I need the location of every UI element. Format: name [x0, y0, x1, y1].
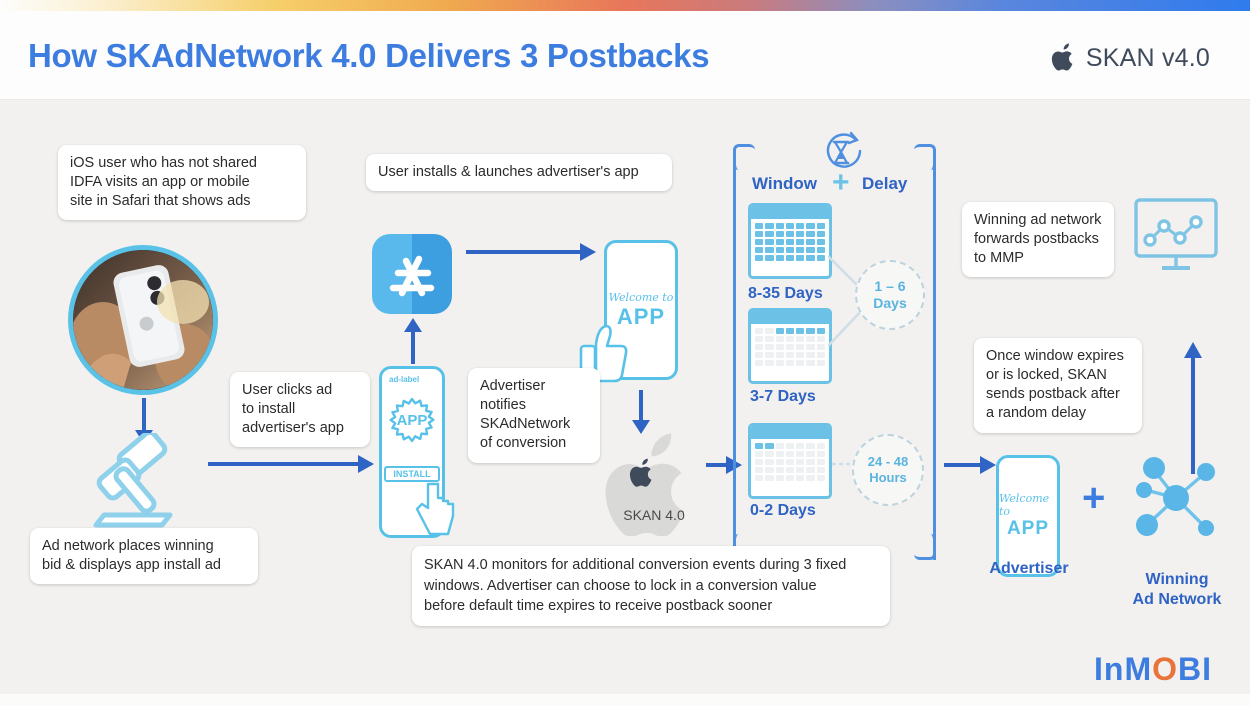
app-starburst-icon: APP: [383, 396, 441, 452]
apple-logo-icon: [1050, 43, 1076, 73]
ad-label: ad-label: [389, 375, 419, 384]
calendar-icon-window-2: [748, 308, 832, 384]
advertiser-phone: Welcome to APP: [996, 455, 1060, 577]
callout-ad-network-bid: Ad network places winning bid & displays…: [30, 528, 258, 584]
network-nodes-icon: [1130, 452, 1222, 544]
arrow-right-to-welcome-phone-icon: [466, 241, 600, 263]
analytics-monitor-icon: [1132, 196, 1222, 274]
delay-circle-1: 1 – 6 Days: [855, 260, 925, 330]
callout-winning-forwards: Winning ad network forwards postbacks to…: [962, 202, 1114, 277]
callout-user-installs: User installs & launches advertiser's ap…: [366, 154, 672, 191]
diagram-canvas: iOS user who has not shared IDFA visits …: [0, 100, 1250, 706]
top-gradient-bar: [0, 0, 1250, 11]
bracket-right-line: [933, 160, 936, 560]
arrow-right-to-ad-phone-icon: [208, 452, 378, 476]
person-holding-iphone-photo: [68, 245, 218, 395]
app-text: APP: [1007, 518, 1049, 540]
winning-ad-network-label: Winning Ad Network: [1118, 570, 1236, 610]
svg-text:APP: APP: [397, 412, 428, 429]
footer-strip: [0, 694, 1250, 706]
calendar-icon-window-1: [748, 203, 832, 279]
skan-version-badge: SKAN v4.0: [1050, 43, 1210, 73]
arrow-right-to-advertiser-icon: [944, 454, 1000, 476]
callout-advertiser-notifies: Advertiser notifies SKAdNetwork of conve…: [468, 368, 600, 463]
advertiser-label: Advertiser: [988, 560, 1070, 578]
tap-hand-icon: [412, 482, 460, 540]
delay-line2: Hours: [869, 470, 907, 486]
inmobi-logo: InMOBI: [1094, 651, 1212, 688]
bracket-bottom-right: [914, 534, 936, 560]
plus-sign-windows: +: [832, 168, 850, 198]
arrow-right-to-windows-icon: [706, 454, 746, 476]
delay-line1: 1 – 6: [874, 278, 905, 295]
window-label-3: 0-2 Days: [750, 502, 816, 520]
plus-sign-bottom: +: [1082, 478, 1105, 518]
skan-apple-badge: SKAN 4.0: [588, 426, 720, 536]
delay-circle-3: 24 - 48 Hours: [852, 434, 924, 506]
callout-user-clicks-ad: User clicks ad to install advertiser's a…: [230, 372, 370, 447]
logo-part-3: BI: [1178, 651, 1212, 687]
skan-version-label: SKAN v4.0: [1086, 44, 1210, 73]
window-heading: Window: [752, 174, 817, 194]
window-label-1: 8-35 Days: [748, 285, 823, 303]
install-button[interactable]: INSTALL: [384, 466, 439, 482]
infographic-root: How SKAdNetwork 4.0 Delivers 3 Postbacks…: [0, 0, 1250, 706]
welcome-text: Welcome to: [999, 492, 1057, 518]
delay-line2: Days: [873, 295, 906, 312]
logo-letter-o: O: [1152, 651, 1178, 687]
header: How SKAdNetwork 4.0 Delivers 3 Postbacks…: [0, 11, 1250, 100]
logo-part-1: In: [1094, 651, 1124, 687]
window-label-2: 3-7 Days: [750, 388, 816, 406]
callout-once-window-expires: Once window expires or is locked, SKAN s…: [974, 338, 1142, 433]
arrow-up-to-app-store-icon: [402, 316, 424, 364]
callout-ios-user: iOS user who has not shared IDFA visits …: [58, 145, 306, 220]
logo-part-2: M: [1124, 651, 1152, 687]
calendar-icon-window-3: [748, 423, 832, 499]
skan-apple-label: SKAN 4.0: [623, 507, 685, 523]
delay-heading: Delay: [862, 174, 907, 194]
bracket-left-line: [733, 160, 736, 560]
bracket-top-left: [733, 144, 755, 170]
callout-skan-monitors: SKAN 4.0 monitors for additional convers…: [412, 546, 890, 626]
app-store-icon: [371, 233, 453, 315]
welcome-text: Welcome to: [609, 291, 674, 304]
delay-line1: 24 - 48: [868, 454, 908, 470]
gavel-icon: [82, 433, 208, 529]
page-title: How SKAdNetwork 4.0 Delivers 3 Postbacks: [28, 37, 709, 75]
